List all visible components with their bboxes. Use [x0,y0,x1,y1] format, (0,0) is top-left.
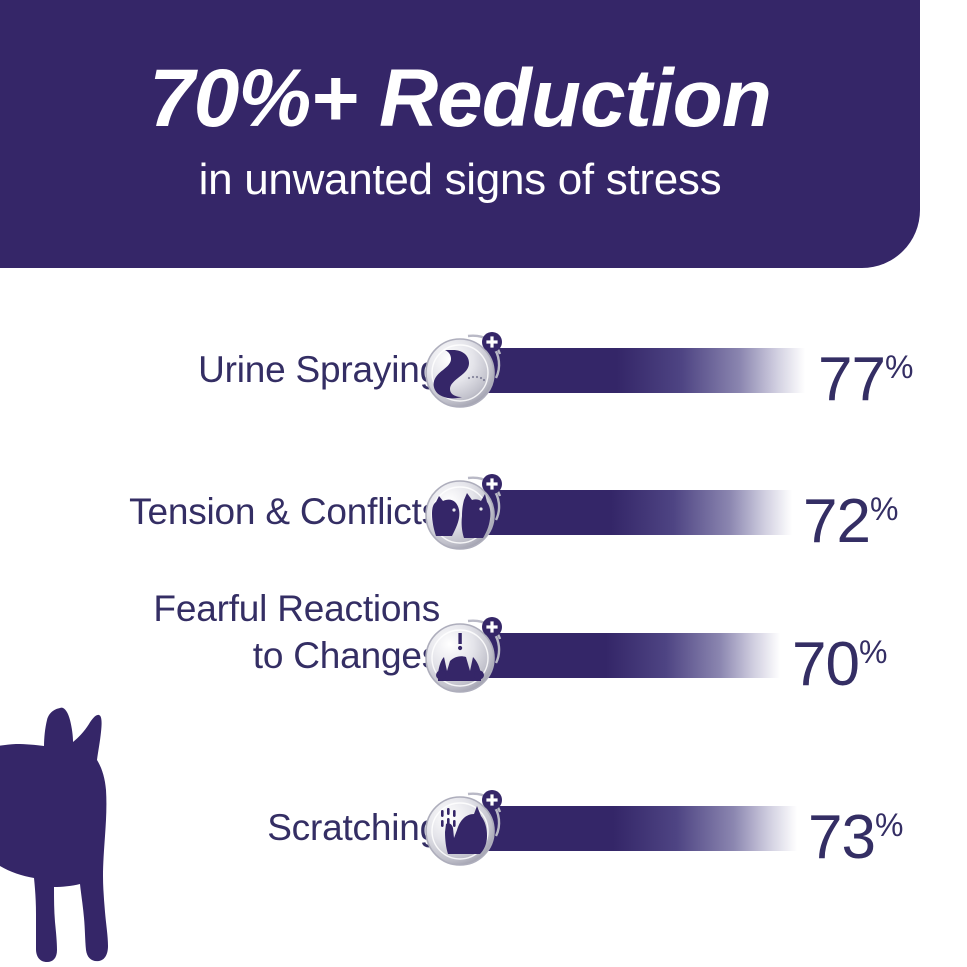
header-band: 70%+ Reduction in unwanted signs of stre… [0,0,920,268]
page-subtitle: in unwanted signs of stress [0,158,920,202]
bar-fill [480,806,797,851]
row-label-line-1: Fearful Reactions [20,585,440,632]
bar-fill [480,490,792,535]
two-cats-tension-medallion-icon [422,470,506,554]
percent-sign: % [870,491,898,527]
bar-value-number: 72 [803,487,870,556]
bar-track-tension-conflicts [480,490,792,535]
bar-value-tension-conflicts: 72% [803,478,898,553]
bar-value-scratching: 73% [808,794,903,869]
row-label-fearful-reactions: Fearful Reactions to Changes [20,585,440,679]
percent-sign: % [859,634,887,670]
row-label-urine-spraying: Urine Spraying [20,346,440,393]
stress-reduction-infographic: 70%+ Reduction in unwanted signs of stre… [0,0,967,967]
bar-fill [480,348,805,393]
bar-track-urine-spraying [480,348,805,393]
bar-value-number: 73 [808,803,875,872]
chart-row-fearful-reactions: Fearful Reactions to Changes [0,633,967,723]
row-label-scratching: Scratching [20,804,440,851]
percent-sign: % [875,807,903,843]
bar-track-fearful-reactions [480,633,780,678]
chart-row-urine-spraying: Urine Spraying [0,348,967,438]
percent-sign: % [885,349,913,385]
bar-value-number: 77 [818,345,885,414]
cat-urine-spraying-medallion-icon [422,328,506,412]
row-label-line-2: to Changes [20,632,440,679]
bar-fill [480,633,780,678]
fearful-cat-medallion-icon [422,613,506,697]
bar-value-number: 70 [792,630,859,699]
bar-track-scratching [480,806,797,851]
chart-row-scratching: Scratching [0,806,967,896]
row-label-tension-conflicts: Tension & Conflicts [20,488,440,535]
cat-scratching-medallion-icon [422,786,506,870]
bar-value-fearful-reactions: 70% [792,621,887,696]
chart-row-tension-conflicts: Tension & Conflicts [0,490,967,580]
page-title: 70%+ Reduction [0,58,920,140]
bar-value-urine-spraying: 77% [818,336,913,411]
